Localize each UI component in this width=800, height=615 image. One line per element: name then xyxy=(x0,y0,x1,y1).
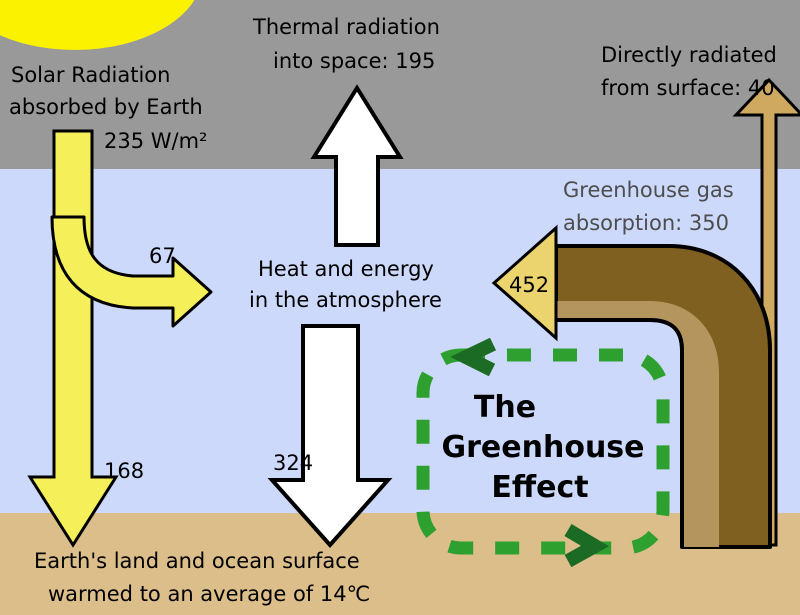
value-67: 67 xyxy=(149,244,176,268)
solar-label-line1: Solar Radiation xyxy=(11,63,170,87)
thermal-label-line1: Thermal radiation xyxy=(252,15,440,39)
value-452: 452 xyxy=(509,273,549,297)
surface-label-line1: Earth's land and ocean surface xyxy=(34,549,360,573)
direct-label-line1: Directly radiated xyxy=(601,43,777,67)
greenhouse-effect-title-line1: The xyxy=(474,390,536,425)
ghg-label-line2: absorption: 350 xyxy=(563,211,729,235)
direct-label-line2: from surface: 40 xyxy=(601,76,775,100)
value-324: 324 xyxy=(273,451,313,475)
atmosphere-label-line2: in the atmosphere xyxy=(249,288,442,312)
atmosphere-label-line1: Heat and energy xyxy=(258,257,434,281)
greenhouse-effect-diagram: Solar Radiation absorbed by Earth 235 W/… xyxy=(0,0,800,615)
thermal-label-line2: into space: 195 xyxy=(273,49,435,73)
surface-label-line2: warmed to an average of 14℃ xyxy=(48,582,370,606)
diagram-canvas: Solar Radiation absorbed by Earth 235 W/… xyxy=(0,0,800,615)
greenhouse-effect-title-line2: Greenhouse xyxy=(442,430,645,465)
ghg-label-line1: Greenhouse gas xyxy=(563,178,734,202)
greenhouse-effect-title-line3: Effect xyxy=(491,470,588,505)
solar-label-line2: absorbed by Earth xyxy=(9,95,203,119)
value-168: 168 xyxy=(104,459,144,483)
solar-label-line3: 235 W/m² xyxy=(104,129,207,153)
